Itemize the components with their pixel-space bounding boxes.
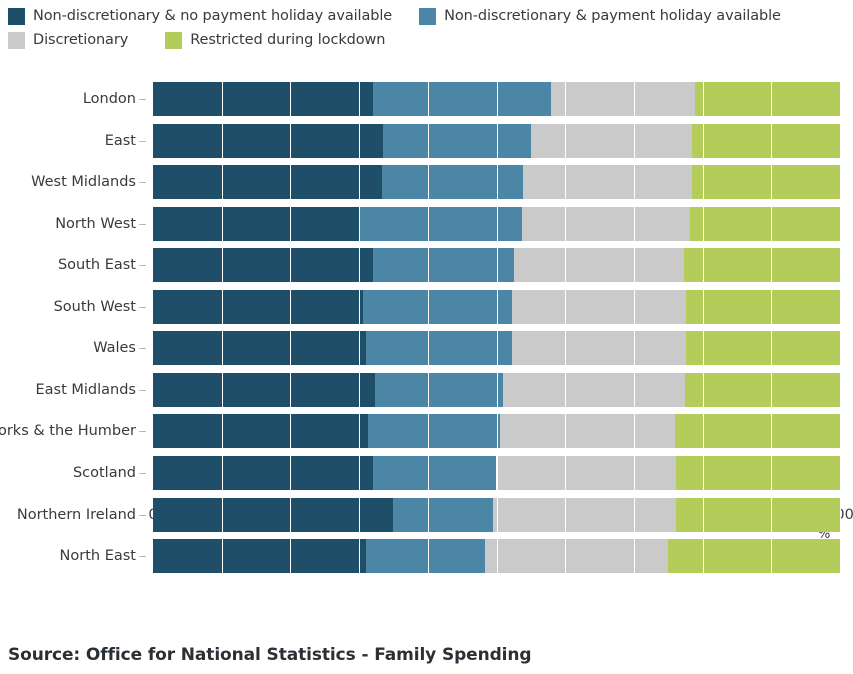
y-axis-label: West Midlands [31,165,136,199]
bar-segment[interactable] [383,124,531,158]
y-axis-label: North East [60,539,136,573]
bar-segment[interactable] [690,207,840,241]
bar-segment[interactable] [363,290,513,324]
bar-segment[interactable] [692,165,840,199]
bar-segment[interactable] [382,165,524,199]
bar-segment[interactable] [366,331,512,365]
bar-segment[interactable] [514,248,684,282]
bar-segment[interactable] [512,290,686,324]
legend-item-label: Discretionary [33,32,128,48]
y-axis-tick [139,307,146,308]
bar-segment[interactable] [497,456,676,490]
bar-segment[interactable] [503,373,685,407]
gridline [428,78,429,577]
y-axis-tick [139,556,146,557]
bar-segment[interactable] [153,456,373,490]
y-axis-label: Scotland [73,456,136,490]
bar-segment[interactable] [153,331,366,365]
bar-segment[interactable] [375,373,503,407]
bar-segment[interactable] [684,248,840,282]
y-axis-tick [139,473,146,474]
bar-segment[interactable] [373,248,514,282]
bar-segment[interactable] [522,207,690,241]
legend-item-label: Non-discretionary & payment holiday avai… [444,8,781,24]
bar-segment[interactable] [692,124,840,158]
legend-item-restricted[interactable]: Restricted during lockdown [165,28,385,52]
bar-segment[interactable] [523,165,691,199]
y-axis-label: Yorks & the Humber [0,414,136,448]
y-axis-tick [139,390,146,391]
bar-segment[interactable] [500,414,675,448]
legend-item-nondisc-holiday[interactable]: Non-discretionary & payment holiday avai… [419,4,781,28]
bar-segment[interactable] [685,373,840,407]
gridline [222,78,223,577]
legend-item-label: Restricted during lockdown [190,32,385,48]
gridline [497,78,498,577]
y-axis-label: London [83,82,136,116]
legend-item-nondisc-no-holiday[interactable]: Non-discretionary & no payment holiday a… [8,4,392,28]
y-axis: LondonEastWest MidlandsNorth WestSouth E… [0,78,146,577]
bar-segment[interactable] [153,290,363,324]
gridline [703,78,704,577]
gridline [290,78,291,577]
bar-segment[interactable] [153,498,393,532]
bar-segment[interactable] [695,82,840,116]
bar-segment[interactable] [393,498,493,532]
legend-swatch-icon [8,8,25,25]
bar-segment[interactable] [360,207,521,241]
y-axis-label: East [105,124,136,158]
bar-segment[interactable] [531,124,692,158]
bar-segment[interactable] [668,539,840,573]
bar-segment[interactable] [153,207,360,241]
plot-area [153,78,840,577]
y-axis-tick [139,348,146,349]
bar-segment[interactable] [153,124,383,158]
stacked-bar-chart: LondonEastWest MidlandsNorth WestSouth E… [0,78,853,598]
bar-segment[interactable] [373,456,497,490]
gridline [359,78,360,577]
legend-row-1: Non-discretionary & no payment holiday a… [8,4,848,28]
legend-row-2: Discretionary Restricted during lockdown [8,28,848,52]
source-note: Source: Office for National Statistics -… [8,645,531,665]
bar-segment[interactable] [551,82,695,116]
bar-segment[interactable] [153,248,373,282]
bar-segment[interactable] [373,82,552,116]
bar-segment[interactable] [676,456,840,490]
y-axis-tick [139,224,146,225]
bar-segment[interactable] [153,82,373,116]
legend-item-discretionary[interactable]: Discretionary [8,28,128,52]
y-axis-tick [139,99,146,100]
bar-segment[interactable] [153,414,368,448]
y-axis-label: South East [58,248,136,282]
bar-segment[interactable] [368,414,500,448]
y-axis-tick [139,182,146,183]
bar-segment[interactable] [676,498,840,532]
bar-segment[interactable] [366,539,485,573]
gridline [771,78,772,577]
bar-segment[interactable] [153,165,382,199]
bar-segment[interactable] [153,539,366,573]
legend-item-label: Non-discretionary & no payment holiday a… [33,8,392,24]
y-axis-tick [139,431,146,432]
bar-segment[interactable] [485,539,668,573]
legend-swatch-icon [8,32,25,49]
legend-swatch-icon [165,32,182,49]
bar-segment[interactable] [686,331,840,365]
bar-segment[interactable] [675,414,840,448]
y-axis-tick [139,265,146,266]
gridline [840,78,841,577]
y-axis-label: East Midlands [35,373,136,407]
y-axis-label: Wales [93,331,136,365]
y-axis-label: Northern Ireland [17,498,136,532]
legend-swatch-icon [419,8,436,25]
bar-segment[interactable] [153,373,375,407]
bar-segment[interactable] [686,290,840,324]
y-axis-label: North West [55,207,136,241]
gridline [565,78,566,577]
gridline [634,78,635,577]
chart-legend: Non-discretionary & no payment holiday a… [8,4,848,52]
bar-segment[interactable] [512,331,686,365]
y-axis-label: South West [54,290,136,324]
y-axis-tick [139,141,146,142]
bar-segment[interactable] [493,498,676,532]
